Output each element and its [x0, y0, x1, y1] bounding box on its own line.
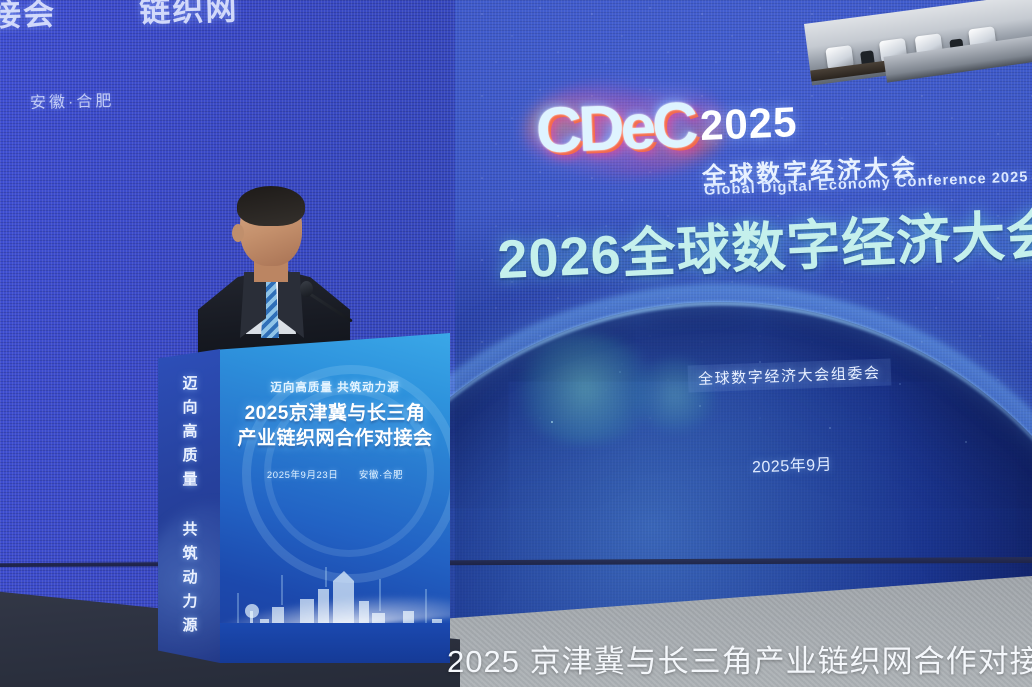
microphone-icon [300, 281, 313, 297]
cropped-banner-right-text: 链织网 [139, 0, 239, 29]
podium-slogan: 迈向高质量 共筑动力源 [220, 379, 450, 395]
screen-date: 2025年9月 [752, 451, 833, 478]
podium-side-panel: 迈向高质量 共筑动力源 [158, 349, 220, 663]
banner-spacer [67, 22, 129, 24]
speaker-hair [237, 186, 305, 226]
podium: 迈向高质量 共筑动力源 迈向高质量 共筑动力源 2025京津冀与长三角 产业链织… [158, 333, 450, 663]
cdec-logo-wordmark: CDeC [534, 83, 717, 172]
cdec-logo: CDeC [534, 83, 717, 172]
cropped-banner-left-text: 接会 [0, 0, 57, 33]
podium-location: 安徽·合肥 [359, 470, 403, 481]
conference-photo-stage: 接会 链织网 安徽·合肥 CDeC 2025 全球数字经济大会 Global D… [0, 0, 1032, 687]
speaker-ear [232, 224, 244, 242]
podium-date: 2025年9月23日 [267, 470, 338, 481]
speaker-person [196, 190, 356, 350]
photo-caption: 2025 京津冀与长三角产业链织网合作对接会 [447, 636, 1032, 681]
podium-side-vertical-text: 迈向高质量 共筑动力源 [179, 375, 200, 641]
screen-title-year: 2025 [699, 98, 798, 150]
podium-title-line2: 产业链织网合作对接会 [220, 426, 450, 451]
podium-front-panel: 迈向高质量 共筑动力源 2025京津冀与长三角 产业链织网合作对接会 2025年… [220, 333, 450, 663]
podium-base [220, 623, 450, 663]
podium-title-line1: 2025京津冀与长三角 [220, 401, 450, 426]
podium-key-visual: 迈向高质量 共筑动力源 2025京津冀与长三角 产业链织网合作对接会 2025年… [220, 379, 450, 481]
banner-location-text: 安徽·合肥 [30, 87, 115, 113]
